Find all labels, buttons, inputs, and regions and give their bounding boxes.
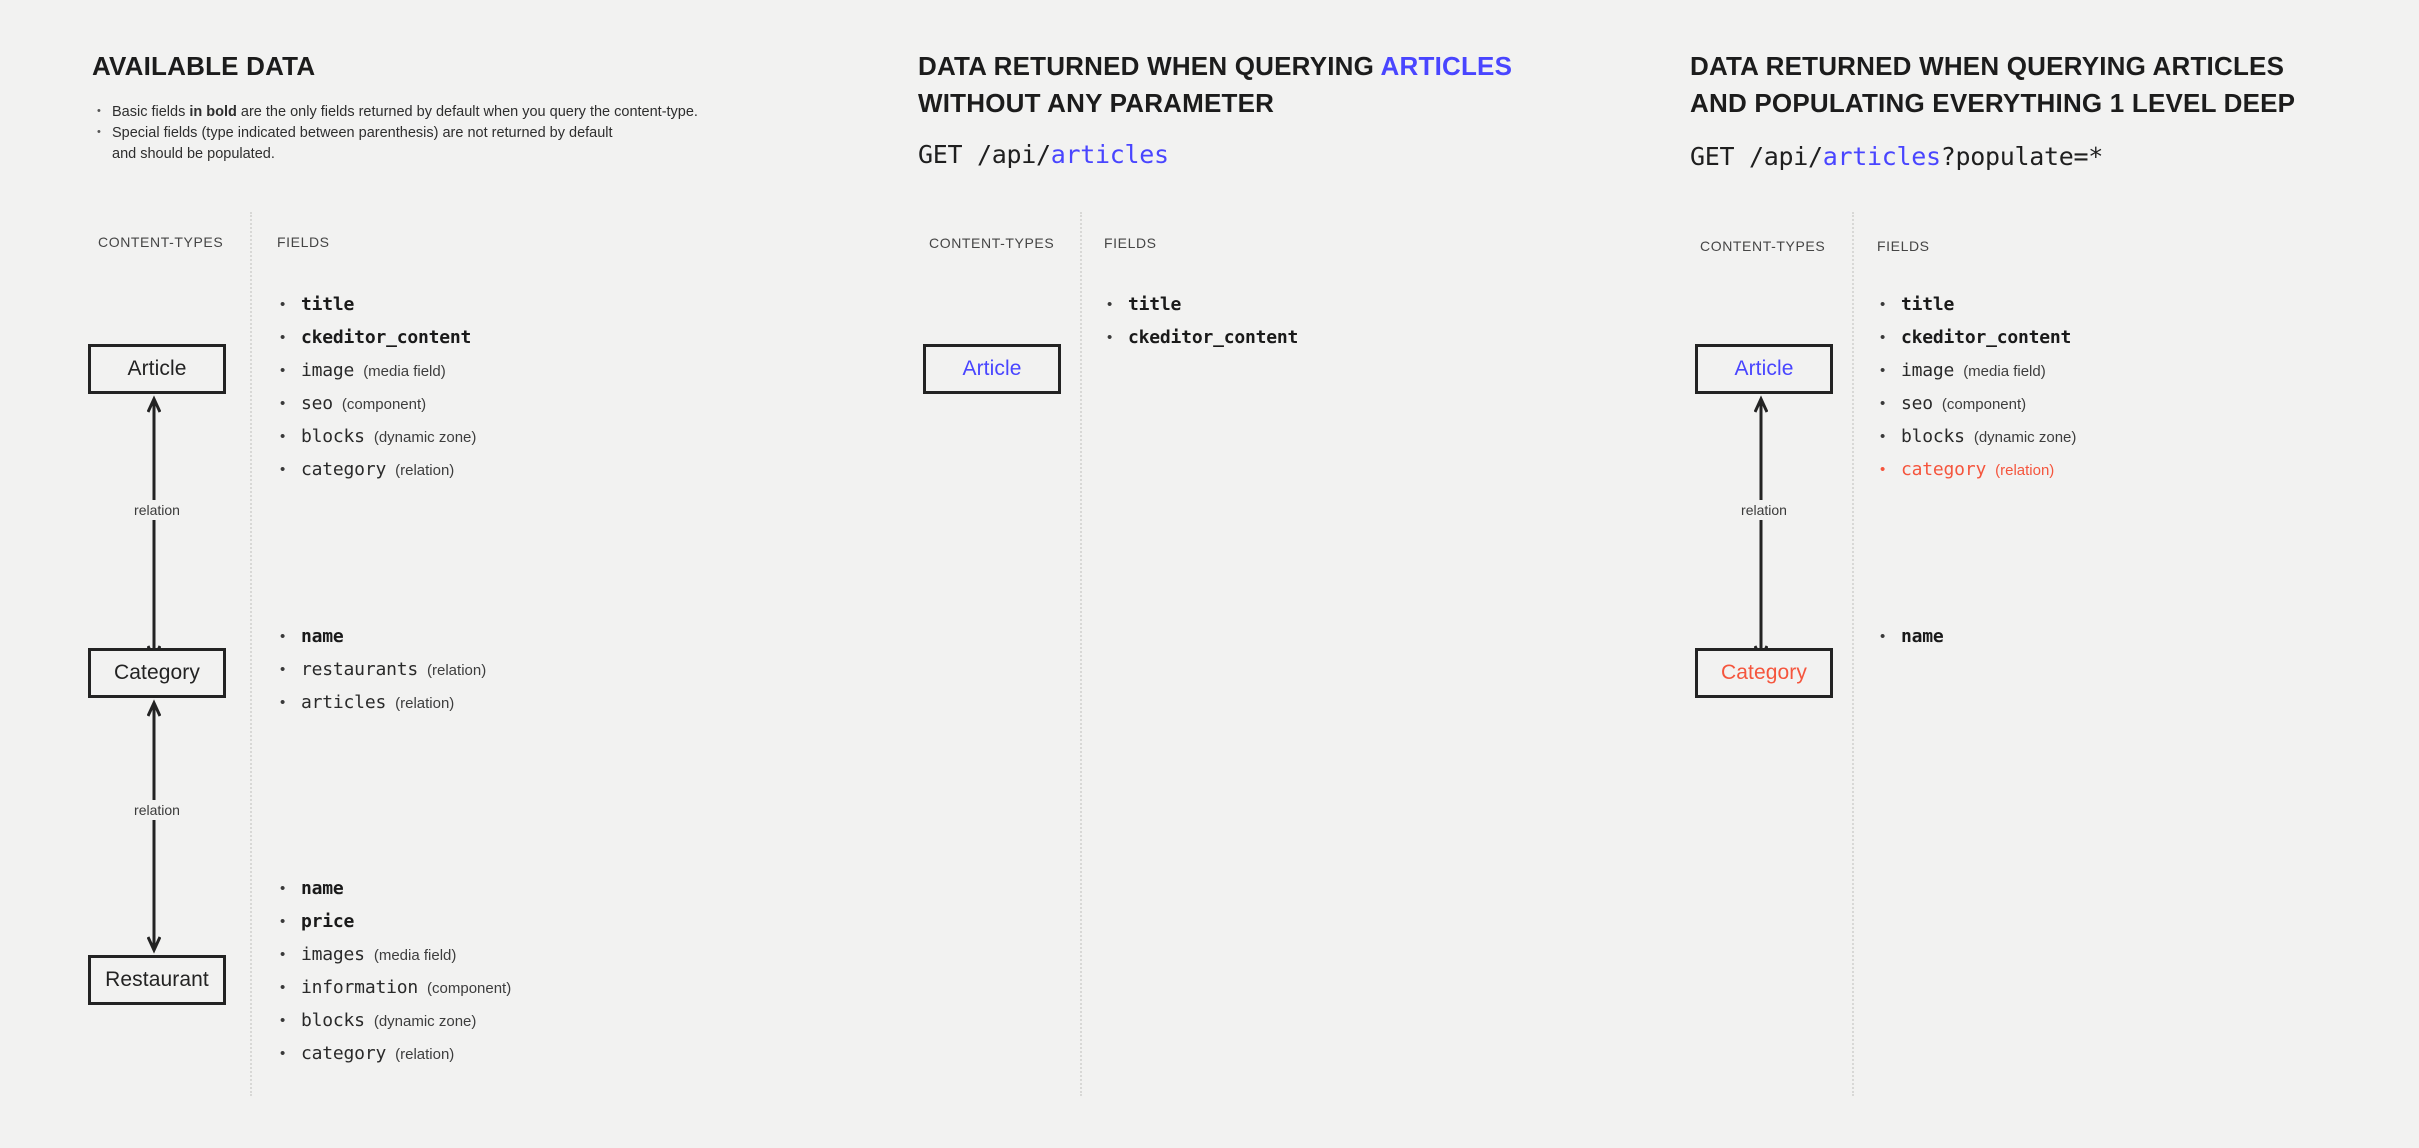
field-list-article: title ckeditor_content: [1104, 288, 1307, 354]
field-type: (relation): [427, 662, 486, 679]
field-name: name: [1901, 626, 1944, 647]
field-row: ckeditor_content: [1104, 321, 1307, 354]
field-type: (component): [427, 980, 511, 997]
field-type: (component): [342, 396, 426, 413]
column-label-content-types: CONTENT-TYPES: [98, 234, 223, 250]
field-row: ckeditor_content: [1877, 321, 2080, 354]
panel-2-title-text: DATA RETURNED WHEN QUERYING: [918, 51, 1381, 81]
field-type: (relation): [395, 1046, 454, 1063]
panel-3-endpoint: GET /api/articles?populate=*: [1690, 142, 2103, 171]
field-row: category(relation): [277, 453, 480, 486]
column-divider: [1852, 212, 1854, 1096]
field-name: name: [301, 626, 344, 647]
field-row: articles(relation): [277, 686, 486, 719]
relation-label: relation: [1736, 500, 1792, 520]
panel-query-populate-all: DATA RETURNED WHEN QUERYING ARTICLES AND…: [1850, 0, 2419, 1148]
field-type: (dynamic zone): [374, 1013, 477, 1030]
field-row: image(media field): [277, 354, 480, 387]
panel-2-title-line-1: DATA RETURNED WHEN QUERYING ARTICLES: [918, 48, 1512, 84]
field-list-article: title ckeditor_content image(media field…: [1877, 288, 2080, 486]
column-divider: [250, 212, 252, 1096]
field-list-category: name restaurants(relation) articles(rela…: [277, 620, 486, 719]
relation-label: relation: [129, 500, 185, 520]
field-name: ckeditor_content: [301, 327, 471, 348]
field-name: image: [301, 360, 354, 381]
field-name: restaurants: [301, 659, 418, 680]
field-row: name: [277, 872, 511, 905]
field-row: name: [277, 620, 486, 653]
entity-label: Category: [114, 661, 200, 685]
field-row: images(media field): [277, 938, 511, 971]
field-name: category: [301, 459, 386, 480]
endpoint-resource: articles: [1823, 142, 1941, 171]
field-type: (media field): [363, 363, 446, 380]
field-type: (relation): [395, 462, 454, 479]
column-label-fields: FIELDS: [1877, 238, 1930, 254]
column-divider: [1080, 212, 1082, 1096]
field-name: ckeditor_content: [1901, 327, 2071, 348]
field-name: seo: [301, 393, 333, 414]
panel-2-title-line-2: WITHOUT ANY PARAMETER: [918, 85, 1274, 121]
field-row: seo(component): [1877, 387, 2080, 420]
field-list-article: title ckeditor_content image(media field…: [277, 288, 480, 486]
field-name: category: [1901, 459, 1986, 480]
field-name: images: [301, 944, 365, 965]
field-type: (relation): [1995, 462, 2054, 479]
field-row: blocks(dynamic zone): [1877, 420, 2080, 453]
field-row: image(media field): [1877, 354, 2080, 387]
entity-label: Restaurant: [105, 968, 209, 992]
note-item-continuation: and should be populated.: [95, 144, 698, 165]
field-name: image: [1901, 360, 1954, 381]
field-type: (dynamic zone): [374, 429, 477, 446]
field-name: title: [1128, 294, 1181, 315]
field-type: (relation): [395, 695, 454, 712]
entity-box-category[interactable]: Category: [88, 648, 226, 698]
note-pre: and should be populated.: [112, 146, 275, 162]
relation-connector-category-restaurant: [147, 698, 161, 955]
field-row: name: [1877, 620, 1953, 653]
panel-query-no-parameter: DATA RETURNED WHEN QUERYING ARTICLES WIT…: [1035, 0, 1850, 1148]
field-type: (dynamic zone): [1974, 429, 2077, 446]
relation-connector-article-category: [147, 394, 161, 664]
panel-2-title-accent: ARTICLES: [1381, 51, 1513, 81]
field-row: seo(component): [277, 387, 480, 420]
column-label-fields: FIELDS: [1104, 235, 1157, 251]
entity-label: Category: [1721, 661, 1807, 685]
field-row: information(component): [277, 971, 511, 1004]
field-name: ckeditor_content: [1128, 327, 1298, 348]
panel-available-data: AVAILABLE DATA Basic fields in bold are …: [0, 0, 1035, 1148]
note-pre: Basic fields: [112, 104, 189, 120]
entity-box-category[interactable]: Category: [1695, 648, 1833, 698]
field-row: title: [277, 288, 480, 321]
field-name: blocks: [301, 1010, 365, 1031]
field-type: (media field): [374, 947, 457, 964]
field-name: blocks: [301, 426, 365, 447]
note-post: are the only fields returned by default …: [237, 104, 698, 120]
field-name: articles: [301, 692, 386, 713]
field-row: restaurants(relation): [277, 653, 486, 686]
field-name: category: [301, 1043, 386, 1064]
endpoint-method-path: GET /api/: [918, 140, 1051, 169]
field-list-restaurant: name price images(media field) informati…: [277, 872, 511, 1070]
endpoint-query: ?populate=*: [1941, 142, 2103, 171]
field-name: title: [301, 294, 354, 315]
note-item: Special fields (type indicated between p…: [95, 123, 698, 144]
field-type: (component): [1942, 396, 2026, 413]
entity-box-restaurant[interactable]: Restaurant: [88, 955, 226, 1005]
column-label-content-types: CONTENT-TYPES: [929, 235, 1054, 251]
relation-connector-article-category: [1754, 394, 1768, 664]
entity-label: Article: [127, 357, 186, 381]
endpoint-resource: articles: [1051, 140, 1169, 169]
field-row: price: [277, 905, 511, 938]
note-strong: in bold: [189, 104, 237, 120]
panel-3-title-line-2: AND POPULATING EVERYTHING 1 LEVEL DEEP: [1690, 85, 2295, 121]
field-row: title: [1877, 288, 2080, 321]
entity-box-article[interactable]: Article: [1695, 344, 1833, 394]
relation-label: relation: [129, 800, 185, 820]
field-row: blocks(dynamic zone): [277, 1004, 511, 1037]
field-name: price: [301, 911, 354, 932]
field-row: title: [1104, 288, 1307, 321]
panel-3-title-line-1: DATA RETURNED WHEN QUERYING ARTICLES: [1690, 48, 2284, 84]
endpoint-method-path: GET /api/: [1690, 142, 1823, 171]
entity-label: Article: [1734, 357, 1793, 381]
field-name: information: [301, 977, 418, 998]
column-label-fields: FIELDS: [277, 234, 330, 250]
panel-1-notes: Basic fields in bold are the only fields…: [95, 102, 698, 165]
panel-3-title-text-2: AND POPULATING EVERYTHING 1 LEVEL DEEP: [1690, 88, 2295, 118]
entity-box-article[interactable]: Article: [88, 344, 226, 394]
field-name: blocks: [1901, 426, 1965, 447]
field-row: blocks(dynamic zone): [277, 420, 480, 453]
panel-1-title-text: AVAILABLE DATA: [92, 51, 315, 81]
field-name: title: [1901, 294, 1954, 315]
panel-3-title-text: DATA RETURNED WHEN QUERYING ARTICLES: [1690, 51, 2284, 81]
field-name: name: [301, 878, 344, 899]
field-row: ckeditor_content: [277, 321, 480, 354]
panel-2-title-text-2: WITHOUT ANY PARAMETER: [918, 88, 1274, 118]
field-row-highlighted: category(relation): [1877, 453, 2080, 486]
panel-2-endpoint: GET /api/articles: [918, 140, 1169, 169]
column-label-content-types: CONTENT-TYPES: [1700, 238, 1825, 254]
field-row: category(relation): [277, 1037, 511, 1070]
panel-1-title: AVAILABLE DATA: [92, 48, 315, 84]
note-pre: Special fields (type indicated between p…: [112, 125, 613, 141]
entity-label: Article: [962, 357, 1021, 381]
entity-box-article[interactable]: Article: [923, 344, 1061, 394]
note-item: Basic fields in bold are the only fields…: [95, 102, 698, 123]
field-list-category: name: [1877, 620, 1953, 653]
field-name: seo: [1901, 393, 1933, 414]
field-type: (media field): [1963, 363, 2046, 380]
